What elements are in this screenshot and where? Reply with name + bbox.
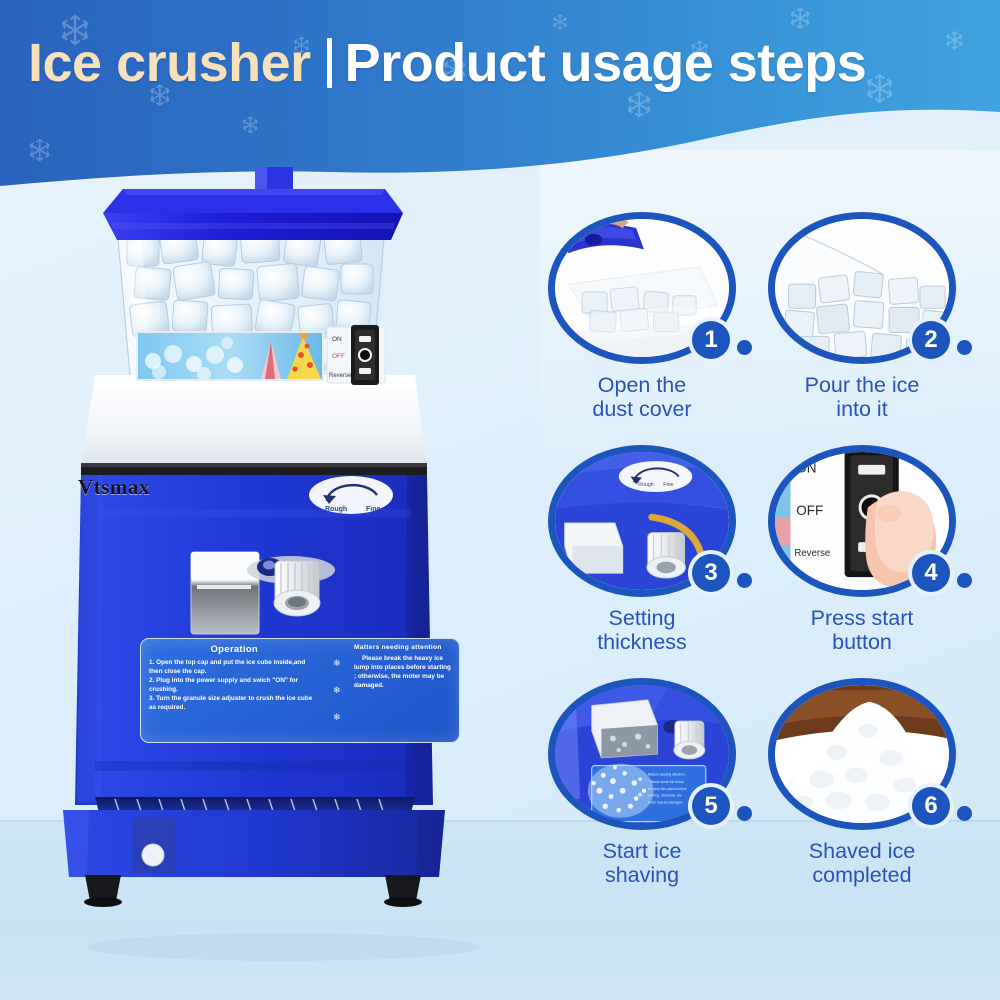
- step-item-1[interactable]: 1 Open the dust cover: [548, 212, 753, 421]
- step-caption-4: Press start button: [768, 606, 956, 654]
- operation-label: Operation 1. Open the top cap and put th…: [140, 638, 460, 743]
- step-item-3[interactable]: Rough Fine 3: [548, 445, 753, 654]
- step-caption-5: Start ice shaving: [548, 839, 736, 887]
- step-number-badge-6: 6: [912, 787, 950, 825]
- title-primary: Ice crusher: [28, 32, 311, 94]
- step-number-badge-1: 1: [692, 321, 730, 359]
- brand-logo: Vtsmax: [78, 475, 150, 500]
- operation-heading: Operation: [149, 644, 320, 655]
- step-accent-dot-1: [737, 340, 752, 355]
- step-caption-line2: into it: [768, 397, 956, 421]
- snowflake-icon: ❄: [333, 659, 341, 668]
- step-circle-3: Rough Fine 3: [548, 445, 736, 597]
- step-circle-4: ON OFF Reverse 4: [768, 445, 956, 597]
- svg-text:moter may be damaged.: moter may be damaged.: [648, 800, 683, 804]
- machine-switch-off-label: OFF: [332, 353, 345, 360]
- step-item-5[interactable]: Matters needing attention Please break t…: [548, 678, 753, 887]
- step-caption-line1: Shaved ice: [768, 839, 956, 863]
- step-caption-line2: button: [768, 630, 956, 654]
- step-caption-line1: Pour the ice: [768, 373, 956, 397]
- snowflake-icon: ❄: [333, 686, 341, 695]
- machine-switch-reverse-label: Reverse: [329, 373, 352, 379]
- step-circle-5: Matters needing attention Please break t…: [548, 678, 736, 830]
- svg-text:Matters needing attention: Matters needing attention: [648, 772, 685, 776]
- step-circle-6: 6: [768, 678, 956, 830]
- dial-label-fine: Fine: [366, 506, 380, 513]
- svg-text:Please break the heavy: Please break the heavy: [650, 780, 684, 784]
- step-caption-2: Pour the ice into it: [768, 373, 956, 421]
- step-item-4[interactable]: ON OFF Reverse 4: [768, 445, 973, 654]
- machine-switch-on-label: ON: [332, 336, 342, 343]
- step-caption-line2: shaving: [548, 863, 736, 887]
- dial-label-rough: Rough: [325, 506, 347, 513]
- svg-text:Fine: Fine: [663, 482, 673, 488]
- step-item-2[interactable]: 2 Pour the ice into it: [768, 212, 973, 421]
- attention-heading: Matters needing attention: [354, 644, 451, 651]
- step-caption-line1: Start ice: [548, 839, 736, 863]
- step-circle-1: 1: [548, 212, 736, 364]
- step-caption-1: Open the dust cover: [548, 373, 736, 421]
- step-caption-line1: Open the: [548, 373, 736, 397]
- switch-reverse-label: Reverse: [794, 548, 830, 559]
- svg-text:ice lump into places before: ice lump into places before: [648, 787, 687, 791]
- step-caption-line2: thickness: [548, 630, 736, 654]
- step-caption-line1: Setting: [548, 606, 736, 630]
- step-caption-line1: Press start: [768, 606, 956, 630]
- operation-step-2: 2. Plug into the power supply and swich …: [149, 676, 320, 694]
- switch-off-label: OFF: [796, 503, 823, 518]
- product-image-ice-crusher: ON OFF Reverse: [55, 165, 510, 965]
- title-separator: [327, 38, 332, 88]
- step-accent-dot-2: [957, 340, 972, 355]
- operation-step-1: 1. Open the top cap and put the ice cube…: [149, 658, 320, 676]
- step-accent-dot-6: [957, 806, 972, 821]
- header-banner: Ice crusher Product usage steps: [0, 0, 1000, 190]
- step-accent-dot-5: [737, 806, 752, 821]
- step-number-badge-4: 4: [912, 554, 950, 592]
- attention-text: Please break the heavy ice lump into pla…: [354, 654, 451, 690]
- header-title: Ice crusher Product usage steps: [28, 28, 978, 98]
- usage-steps-grid: 1 Open the dust cover: [540, 212, 1000, 912]
- step-caption-line2: dust cover: [548, 397, 736, 421]
- operation-step-3: 3. Turn the granule size adjuster to cru…: [149, 694, 320, 712]
- step-number-badge-2: 2: [912, 321, 950, 359]
- svg-text:Rough: Rough: [638, 482, 654, 488]
- step-accent-dot-3: [737, 573, 752, 588]
- step-number-badge-5: 5: [692, 787, 730, 825]
- step-caption-3: Setting thickness: [548, 606, 736, 654]
- step-caption-6: Shaved ice completed: [768, 839, 956, 887]
- infographic-page: Ice crusher Product usage steps: [0, 0, 1000, 1000]
- switch-on-label: ON: [796, 461, 816, 476]
- step-circle-2: 2: [768, 212, 956, 364]
- step-item-6[interactable]: 6 Shaved ice completed: [768, 678, 973, 887]
- step-number-badge-3: 3: [692, 554, 730, 592]
- snowflake-icon: ❄: [333, 713, 341, 722]
- title-secondary: Product usage steps: [345, 32, 867, 94]
- step-caption-line2: completed: [768, 863, 956, 887]
- step-accent-dot-4: [957, 573, 972, 588]
